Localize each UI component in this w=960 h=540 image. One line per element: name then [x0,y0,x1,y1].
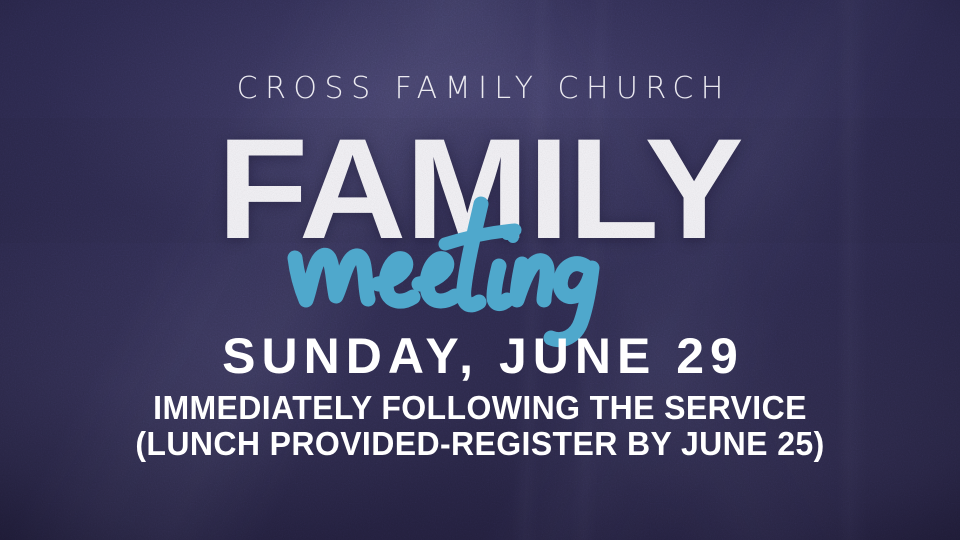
event-poster: CROSS FAMILY CHURCH FAMILY [0,0,960,540]
page-title: FAMILY [0,118,960,261]
event-registration-note: (LUNCH PROVIDED-REGISTER BY JUNE 25) [14,427,945,460]
event-date: SUNDAY, JUNE 29 [0,331,960,381]
event-time-note: IMMEDIATELY FOLLOWING THE SERVICE [14,391,945,424]
poster-content: CROSS FAMILY CHURCH FAMILY [0,0,960,540]
